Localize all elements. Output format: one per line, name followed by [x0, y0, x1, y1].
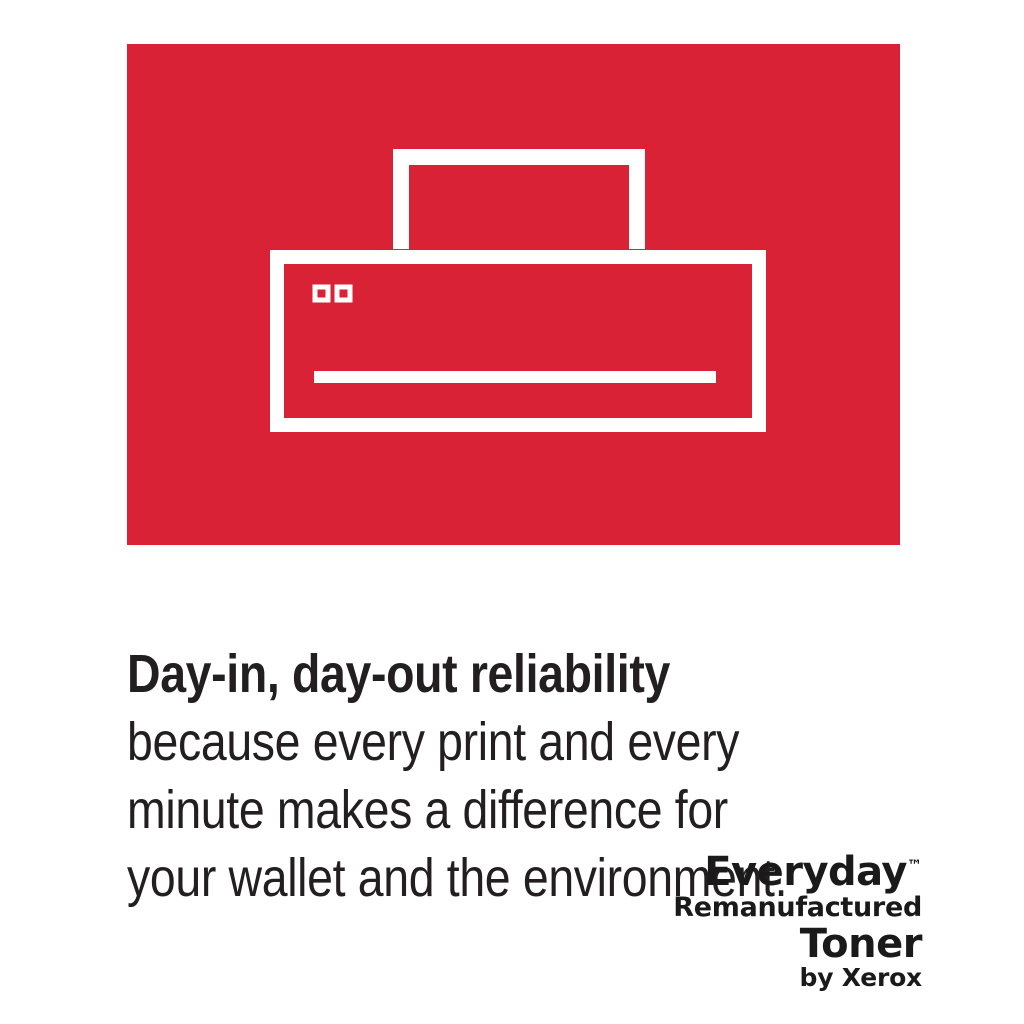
printer-body-outline	[277, 257, 759, 425]
brand-attribution: by Xerox	[560, 965, 922, 990]
printer-indicator-light-1	[315, 287, 328, 300]
printer-indicator-light-2	[337, 287, 350, 300]
hero-red-panel	[127, 44, 900, 545]
headline-lede: Day-in, day-out reliability	[127, 644, 670, 704]
advertisement-root: Day-in, day-out reliability because ever…	[0, 0, 1024, 1024]
brand-category: Toner	[560, 924, 922, 964]
printer-tray-arch	[401, 157, 637, 249]
brand-product-name-text: Everyday	[704, 849, 907, 895]
printer-output-slot	[314, 371, 716, 383]
trademark-icon: ™	[907, 857, 922, 875]
brand-product-name: Everyday™	[560, 852, 922, 892]
brand-lockup: Everyday™ Remanufactured Toner by Xerox	[560, 852, 922, 990]
brand-qualifier: Remanufactured	[560, 894, 922, 921]
printer-icon	[127, 44, 900, 545]
